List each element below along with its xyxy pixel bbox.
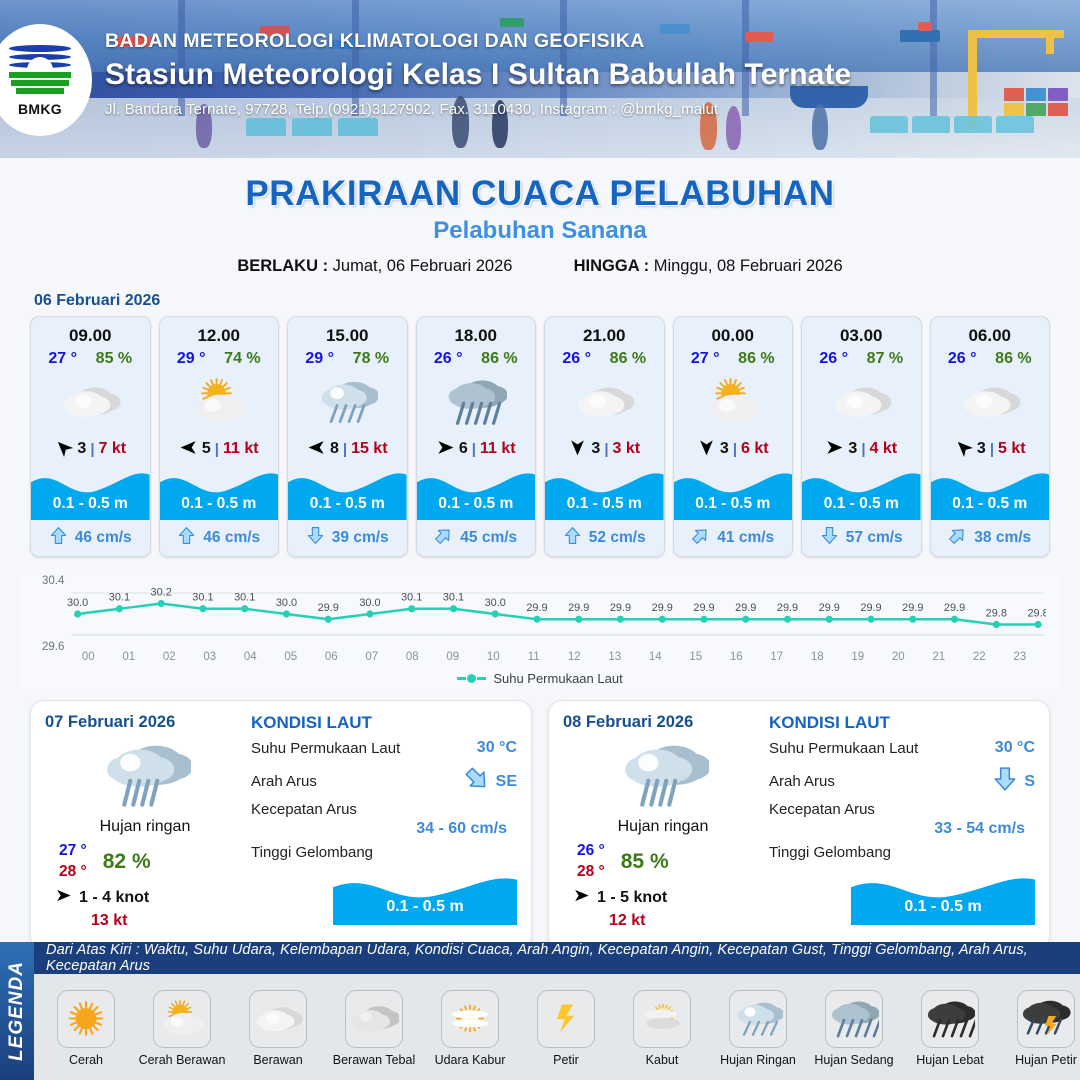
wind-gust-separator: | <box>215 441 219 458</box>
svg-text:29.9: 29.9 <box>819 602 840 614</box>
x-axis-tick: 02 <box>149 651 190 663</box>
forecast-card: 21.00 26 ° 86 % 3 | 3 kt 0.1 - 0.5 m 52 … <box>544 316 665 557</box>
x-axis-tick: 12 <box>554 651 595 663</box>
wind-direction-arrow-icon <box>307 438 326 460</box>
x-axis-tick: 22 <box>959 651 1000 663</box>
current-direction-arrow-icon <box>563 526 582 550</box>
legend-item-label: Udara Kabur <box>435 1053 506 1067</box>
card-temperature: 26 ° <box>562 350 591 368</box>
wind-gust: 15 kt <box>351 440 387 458</box>
legend-item: Hujan Sedang <box>806 990 902 1067</box>
svg-text:29.9: 29.9 <box>652 602 673 614</box>
svg-text:29.9: 29.9 <box>568 602 589 614</box>
svg-text:30.1: 30.1 <box>234 592 255 604</box>
card-humidity: 86 % <box>738 350 774 368</box>
current-direction-value: S <box>1024 773 1035 791</box>
x-axis-tick: 07 <box>352 651 393 663</box>
svg-text:30.1: 30.1 <box>401 592 422 604</box>
forecast-card: 18.00 26 ° 86 % 6 | 11 kt 0.1 - 0.5 m 45… <box>416 316 537 557</box>
svg-text:29.9: 29.9 <box>944 602 965 614</box>
wind-speed: 3 <box>591 440 600 458</box>
card-temperature: 29 ° <box>305 350 334 368</box>
current-speed-value: 33 - 54 cm/s <box>769 820 1035 838</box>
x-axis-tick: 04 <box>230 651 271 663</box>
wave-height: 0.1 - 0.5 m <box>31 495 150 513</box>
forecast-date-label: 06 Februari 2026 <box>34 292 1080 310</box>
x-axis-tick: 21 <box>919 651 960 663</box>
svg-text:29.9: 29.9 <box>860 602 881 614</box>
weather-icon-berawan <box>802 370 921 432</box>
wind-gust: 3 kt <box>613 440 641 458</box>
current-speed: 57 cm/s <box>846 529 903 547</box>
wind-speed: 3 <box>977 440 986 458</box>
x-axis-tick: 06 <box>311 651 352 663</box>
wind-direction-arrow-icon <box>568 438 587 460</box>
sst-label: Suhu Permukaan Laut <box>769 740 918 757</box>
wave-height-block: 0.1 - 0.5 m <box>802 466 921 520</box>
wind-range: 1 - 5 knot <box>597 889 667 907</box>
legend-item: Hujan Ringan <box>710 990 806 1067</box>
wave-height-block: 0.1 - 0.5 m <box>931 466 1050 520</box>
card-time: 15.00 <box>288 317 407 346</box>
panel-gust: 12 kt <box>609 912 763 930</box>
wind-speed: 3 <box>77 440 86 458</box>
bmkg-logo-glyph <box>9 43 71 99</box>
panel-wave-block: 0.1 - 0.5 m <box>851 863 1035 925</box>
wind-speed: 8 <box>330 440 339 458</box>
agency-name: BADAN METEOROLOGI KLIMATOLOGI DAN GEOFIS… <box>105 30 1005 53</box>
svg-text:29.9: 29.9 <box>777 602 798 614</box>
forecast-card-list: 09.00 27 ° 85 % 3 | 7 kt 0.1 - 0.5 m 46 … <box>0 316 1080 557</box>
weather-icon-hujan-ringan <box>563 734 763 816</box>
current-speed: 45 cm/s <box>460 529 517 547</box>
svg-text:29.9: 29.9 <box>318 602 339 614</box>
weather-condition: Hujan ringan <box>563 818 763 836</box>
legend-item: Berawan Tebal <box>326 990 422 1067</box>
x-axis-tick: 03 <box>190 651 231 663</box>
sst-value: 30 °C <box>995 739 1035 757</box>
card-humidity: 74 % <box>224 350 260 368</box>
svg-text:29.9: 29.9 <box>902 602 923 614</box>
panel-date: 07 Februari 2026 <box>45 713 245 732</box>
temp-max: 28 ° <box>59 863 87 881</box>
x-axis-tick: 17 <box>757 651 798 663</box>
svg-text:30.0: 30.0 <box>276 597 297 609</box>
legend-item: Udara Kabur <box>422 990 518 1067</box>
wind-direction-arrow-icon <box>825 438 844 460</box>
weather-icon-berawan <box>931 370 1050 432</box>
weather-icon-berawan <box>31 370 150 432</box>
forecast-card: 06.00 26 ° 86 % 3 | 5 kt 0.1 - 0.5 m 38 … <box>930 316 1051 557</box>
wave-height-label: Tinggi Gelombang <box>769 844 1035 861</box>
legend-item-label: Hujan Petir <box>1015 1053 1077 1067</box>
card-temperature: 26 ° <box>819 350 848 368</box>
y-axis-tick-min: 29.6 <box>42 641 64 653</box>
current-direction-arrow-icon <box>306 526 325 550</box>
temp-min: 26 ° <box>577 842 605 860</box>
sea-conditions-title: KONDISI LAUT <box>251 713 517 733</box>
wind-speed: 6 <box>459 440 468 458</box>
wind-direction-arrow-icon <box>54 438 73 460</box>
legend-item: Cerah Berawan <box>134 990 230 1067</box>
current-direction-arrow-icon <box>49 526 68 550</box>
current-direction-arrow-icon <box>434 526 453 550</box>
page-header: BMKG BADAN METEOROLOGI KLIMATOLOGI DAN G… <box>0 0 1080 158</box>
wind-direction-arrow-icon <box>573 887 590 909</box>
forecast-card: 09.00 27 ° 85 % 3 | 7 kt 0.1 - 0.5 m 46 … <box>30 316 151 557</box>
weather-icon-hujan-ringan <box>288 370 407 432</box>
current-speed: 46 cm/s <box>75 529 132 547</box>
daily-summary-list: 07 Februari 2026 Hujan ringan 27 ° 28 ° … <box>0 690 1080 950</box>
wave-height: 0.1 - 0.5 m <box>674 495 793 513</box>
card-time: 00.00 <box>674 317 793 346</box>
x-axis-tick: 19 <box>838 651 879 663</box>
svg-text:29.9: 29.9 <box>526 602 547 614</box>
svg-text:29.9: 29.9 <box>610 602 631 614</box>
current-direction-label: Arah Arus <box>251 773 317 790</box>
card-time: 03.00 <box>802 317 921 346</box>
wind-direction-arrow-icon <box>179 438 198 460</box>
current-speed: 52 cm/s <box>589 529 646 547</box>
sst-chart: 30.4 29.6 30.030.130.230.130.130.029.930… <box>34 577 1046 649</box>
legend-item-label: Petir <box>553 1053 579 1067</box>
wave-height: 0.1 - 0.5 m <box>288 495 407 513</box>
x-axis-tick: 08 <box>392 651 433 663</box>
card-time: 12.00 <box>160 317 279 346</box>
current-direction-arrow-icon <box>948 526 967 550</box>
weather-icon-hujan-petir <box>1017 990 1075 1048</box>
wind-gust-separator: | <box>343 441 347 458</box>
current-speed-label: Kecepatan Arus <box>769 801 1035 818</box>
wave-height: 0.1 - 0.5 m <box>802 495 921 513</box>
card-humidity: 87 % <box>867 350 903 368</box>
weather-icon-berawan-tebal <box>345 990 403 1048</box>
x-axis-tick: 11 <box>514 651 555 663</box>
legend-item-label: Berawan Tebal <box>333 1053 415 1067</box>
legend-item: Kabut <box>614 990 710 1067</box>
card-humidity: 86 % <box>481 350 517 368</box>
legend-item-label: Cerah <box>69 1053 103 1067</box>
sst-value: 30 °C <box>477 739 517 757</box>
wave-height: 0.1 - 0.5 m <box>545 495 664 513</box>
wind-speed: 3 <box>848 440 857 458</box>
wind-speed: 3 <box>720 440 729 458</box>
wind-direction-arrow-icon <box>55 887 72 909</box>
page-title: PRAKIRAAN CUACA PELABUHAN <box>0 174 1080 214</box>
current-direction-label: Arah Arus <box>769 773 835 790</box>
wave-height-label: Tinggi Gelombang <box>251 844 517 861</box>
wave-height-block: 0.1 - 0.5 m <box>31 466 150 520</box>
current-speed: 41 cm/s <box>717 529 774 547</box>
valid-until-value: Minggu, 08 Februari 2026 <box>654 257 843 275</box>
weather-icon-udara-kabur <box>441 990 499 1048</box>
card-temperature: 26 ° <box>948 350 977 368</box>
current-speed: 46 cm/s <box>203 529 260 547</box>
forecast-card: 03.00 26 ° 87 % 3 | 4 kt 0.1 - 0.5 m 57 … <box>801 316 922 557</box>
svg-text:30.0: 30.0 <box>485 597 506 609</box>
legend-item: Petir <box>518 990 614 1067</box>
card-time: 18.00 <box>417 317 536 346</box>
station-name: Stasiun Meteorologi Kelas I Sultan Babul… <box>105 58 1005 92</box>
wind-gust-separator: | <box>733 441 737 458</box>
legend-item: Hujan Lebat <box>902 990 998 1067</box>
bmkg-logo-text: BMKG <box>18 101 62 117</box>
sst-chart-panel: 30.4 29.6 30.030.130.230.130.130.029.930… <box>20 569 1060 690</box>
current-speed: 38 cm/s <box>974 529 1031 547</box>
wind-direction-arrow-icon <box>697 438 716 460</box>
daily-summary-panel: 08 Februari 2026 Hujan ringan 26 ° 28 ° … <box>548 700 1050 950</box>
panel-wave-value: 0.1 - 0.5 m <box>851 898 1035 916</box>
weather-icon-hujan-lebat <box>921 990 979 1048</box>
daily-summary-panel: 07 Februari 2026 Hujan ringan 27 ° 28 ° … <box>30 700 532 950</box>
legend-item: Hujan Petir <box>998 990 1080 1067</box>
svg-text:30.0: 30.0 <box>359 597 380 609</box>
station-contact: Jl. Bandara Ternate, 97728, Telp.(0921)3… <box>105 101 1005 118</box>
card-humidity: 78 % <box>353 350 389 368</box>
weather-icon-cerah-berawan <box>160 370 279 432</box>
forecast-card: 12.00 29 ° 74 % 5 | 11 kt 0.1 - 0.5 m 46… <box>159 316 280 557</box>
wave-height-block: 0.1 - 0.5 m <box>288 466 407 520</box>
svg-text:29.9: 29.9 <box>693 602 714 614</box>
x-axis-tick: 16 <box>716 651 757 663</box>
wave-height-block: 0.1 - 0.5 m <box>417 466 536 520</box>
legend-line-marker <box>457 674 486 683</box>
card-humidity: 86 % <box>610 350 646 368</box>
card-time: 06.00 <box>931 317 1050 346</box>
valid-until-label: HINGGA : <box>574 257 649 275</box>
legend-item-label: Cerah Berawan <box>139 1053 226 1067</box>
wind-gust-separator: | <box>472 441 476 458</box>
legend-item-list: Cerah Cerah Berawan Berawan Berawan Teba… <box>34 974 1080 1080</box>
legend-item-label: Kabut <box>646 1053 679 1067</box>
x-axis-tick: 00 <box>68 651 109 663</box>
card-temperature: 26 ° <box>434 350 463 368</box>
weather-icon-kabut <box>633 990 691 1048</box>
valid-from-label: BERLAKU : <box>237 257 328 275</box>
current-speed-label: Kecepatan Arus <box>251 801 517 818</box>
legend-label-sst: Suhu Permukaan Laut <box>493 671 622 686</box>
weather-icon-hujan-sedang <box>417 370 536 432</box>
legend-bar: LEGENDA Dari Atas Kiri : Waktu, Suhu Uda… <box>0 942 1080 1080</box>
x-axis-tick: 13 <box>595 651 636 663</box>
legend-item-label: Hujan Lebat <box>916 1053 983 1067</box>
wind-direction-arrow-icon <box>954 438 973 460</box>
card-time: 21.00 <box>545 317 664 346</box>
x-axis-tick: 15 <box>676 651 717 663</box>
x-axis-tick: 10 <box>473 651 514 663</box>
x-axis-tick: 09 <box>433 651 474 663</box>
legend-item-label: Hujan Sedang <box>814 1053 893 1067</box>
weather-icon-petir <box>537 990 595 1048</box>
panel-date: 08 Februari 2026 <box>563 713 763 732</box>
panel-wave-value: 0.1 - 0.5 m <box>333 898 517 916</box>
y-axis-tick-max: 30.4 <box>42 575 64 587</box>
current-speed-value: 34 - 60 cm/s <box>251 820 517 838</box>
temp-min: 27 ° <box>59 842 87 860</box>
card-humidity: 85 % <box>96 350 132 368</box>
current-direction-value: SE <box>496 773 517 791</box>
current-speed: 39 cm/s <box>332 529 389 547</box>
card-humidity: 86 % <box>995 350 1031 368</box>
wind-range: 1 - 4 knot <box>79 889 149 907</box>
sst-label: Suhu Permukaan Laut <box>251 740 400 757</box>
weather-icon-berawan <box>545 370 664 432</box>
svg-text:29.9: 29.9 <box>735 602 756 614</box>
temp-max: 28 ° <box>577 863 605 881</box>
wind-direction-arrow-icon <box>436 438 455 460</box>
x-axis-tick: 18 <box>797 651 838 663</box>
wind-speed: 5 <box>202 440 211 458</box>
svg-text:30.0: 30.0 <box>67 597 88 609</box>
card-time: 09.00 <box>31 317 150 346</box>
wind-gust-separator: | <box>861 441 865 458</box>
weather-icon-hujan-ringan <box>729 990 787 1048</box>
wave-height: 0.1 - 0.5 m <box>417 495 536 513</box>
panel-humidity: 82 % <box>103 850 151 874</box>
x-axis-tick: 14 <box>635 651 676 663</box>
svg-text:30.1: 30.1 <box>109 592 130 604</box>
weather-icon-cerah-berawan <box>153 990 211 1048</box>
card-temperature: 27 ° <box>48 350 77 368</box>
legend-item-label: Berawan <box>253 1053 302 1067</box>
x-axis-tick: 05 <box>271 651 312 663</box>
wave-height-block: 0.1 - 0.5 m <box>160 466 279 520</box>
weather-icon-cerah-berawan <box>674 370 793 432</box>
weather-condition: Hujan ringan <box>45 818 245 836</box>
svg-text:30.2: 30.2 <box>151 586 172 598</box>
card-temperature: 27 ° <box>691 350 720 368</box>
x-axis-tick: 20 <box>878 651 919 663</box>
chart-legend: Suhu Permukaan Laut <box>24 671 1056 686</box>
current-direction-arrow-icon <box>992 766 1018 797</box>
sst-chart-svg: 30.030.130.230.130.130.029.930.030.130.1… <box>34 577 1046 649</box>
wave-height: 0.1 - 0.5 m <box>160 495 279 513</box>
svg-text:30.1: 30.1 <box>192 592 213 604</box>
wave-height: 0.1 - 0.5 m <box>931 495 1050 513</box>
weather-icon-hujan-sedang <box>825 990 883 1048</box>
weather-icon-berawan <box>249 990 307 1048</box>
legend-item: Cerah <box>38 990 134 1067</box>
x-axis-tick: 23 <box>1000 651 1041 663</box>
weather-icon-cerah <box>57 990 115 1048</box>
forecast-card: 15.00 29 ° 78 % 8 | 15 kt 0.1 - 0.5 m 39… <box>287 316 408 557</box>
wind-gust-separator: | <box>604 441 608 458</box>
wind-gust: 7 kt <box>99 440 127 458</box>
title-block: PRAKIRAAN CUACA PELABUHAN Pelabuhan Sana… <box>0 174 1080 276</box>
forecast-card: 00.00 27 ° 86 % 3 | 6 kt 0.1 - 0.5 m 41 … <box>673 316 794 557</box>
wind-gust: 6 kt <box>741 440 769 458</box>
legend-note: Dari Atas Kiri : Waktu, Suhu Udara, Kele… <box>34 942 1080 974</box>
wave-height-block: 0.1 - 0.5 m <box>545 466 664 520</box>
legend-item: Berawan <box>230 990 326 1067</box>
x-axis-tick: 01 <box>109 651 150 663</box>
sea-conditions-title: KONDISI LAUT <box>769 713 1035 733</box>
svg-text:29.8: 29.8 <box>1027 607 1046 619</box>
weather-icon-hujan-ringan <box>45 734 245 816</box>
svg-text:29.8: 29.8 <box>986 607 1007 619</box>
wind-gust-separator: | <box>990 441 994 458</box>
current-direction-arrow-icon <box>691 526 710 550</box>
wind-gust: 11 kt <box>223 440 259 458</box>
wind-gust: 11 kt <box>480 440 516 458</box>
current-direction-arrow-icon <box>177 526 196 550</box>
wave-height-block: 0.1 - 0.5 m <box>674 466 793 520</box>
wind-gust: 5 kt <box>998 440 1026 458</box>
panel-wave-block: 0.1 - 0.5 m <box>333 863 517 925</box>
panel-humidity: 85 % <box>621 850 669 874</box>
current-direction-arrow-icon <box>464 766 490 797</box>
panel-gust: 13 kt <box>91 912 245 930</box>
svg-text:30.1: 30.1 <box>443 592 464 604</box>
legend-item-label: Hujan Ringan <box>720 1053 796 1067</box>
validity-period: BERLAKU : Jumat, 06 Februari 2026 HINGGA… <box>0 257 1080 276</box>
x-axis-ticks: 0001020304050607080910111213141516171819… <box>68 651 1046 663</box>
port-name: Pelabuhan Sanana <box>0 217 1080 245</box>
current-direction-arrow-icon <box>820 526 839 550</box>
valid-from-value: Jumat, 06 Februari 2026 <box>333 257 513 275</box>
card-temperature: 29 ° <box>177 350 206 368</box>
legend-side-title: LEGENDA <box>0 942 34 1080</box>
wind-gust-separator: | <box>90 441 94 458</box>
wind-gust: 4 kt <box>870 440 898 458</box>
